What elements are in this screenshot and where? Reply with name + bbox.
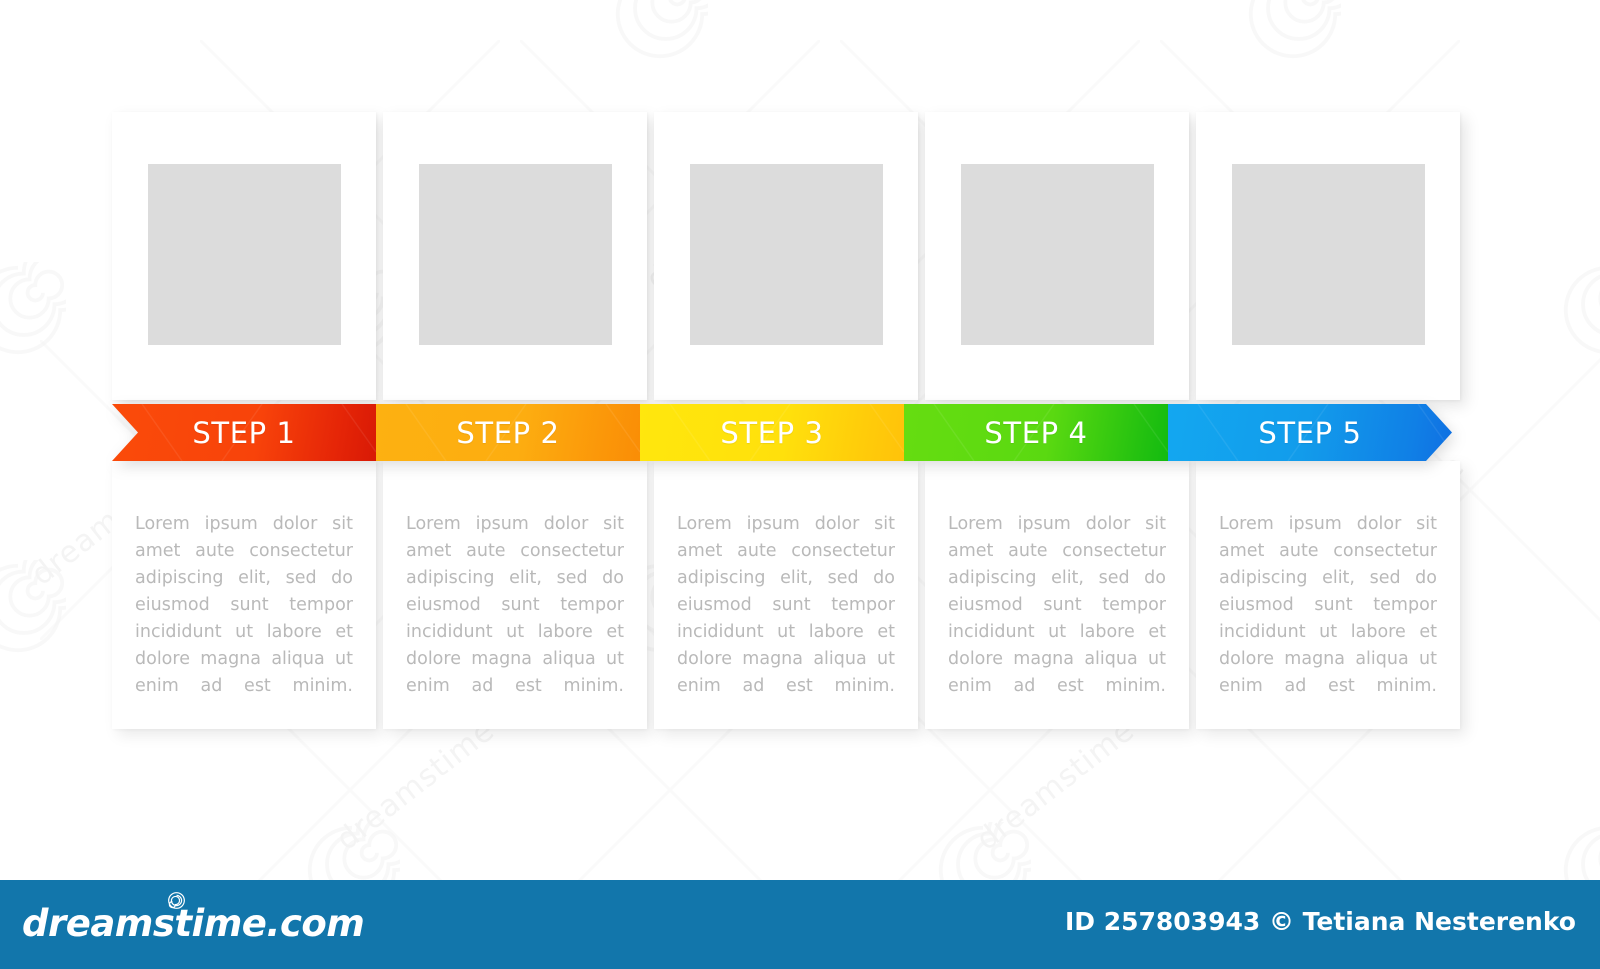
step-description-text: Lorem ipsum dolor sit amet aute consecte…: [677, 511, 895, 700]
step-description-card-2: Lorem ipsum dolor sit amet aute consecte…: [383, 461, 647, 729]
step-description-card-3: Lorem ipsum dolor sit amet aute consecte…: [654, 461, 918, 729]
infographic-canvas: dreamstime dreamstime dreamstime dreamst…: [0, 0, 1600, 969]
step-description-text: Lorem ipsum dolor sit amet aute consecte…: [135, 511, 353, 700]
step-label: STEP 4: [984, 416, 1087, 450]
watermark-spiral-icon: [612, 0, 708, 62]
image-cards-row: [112, 112, 1462, 407]
dreamstime-logo[interactable]: dreamstime.com: [22, 902, 364, 945]
step-card-4[interactable]: [925, 112, 1189, 400]
step-label: STEP 3: [720, 416, 823, 450]
watermark-spiral-icon: [0, 262, 66, 358]
step-description-card-4: Lorem ipsum dolor sit amet aute consecte…: [925, 461, 1189, 729]
step-description-text: Lorem ipsum dolor sit amet aute consecte…: [406, 511, 624, 700]
image-placeholder[interactable]: [961, 164, 1154, 345]
stock-footer-bar: dreamstime.com ID 257803943 © Tetiana Ne…: [0, 880, 1600, 969]
step-card-1[interactable]: [112, 112, 376, 400]
spiral-registered-icon: [168, 892, 185, 909]
description-cards-row: Lorem ipsum dolor sit amet aute consecte…: [112, 461, 1462, 731]
step-description-text: Lorem ipsum dolor sit amet aute consecte…: [948, 511, 1166, 700]
step-segment-3[interactable]: STEP 3: [640, 404, 904, 461]
watermark-word: dreamstime: [330, 713, 501, 858]
image-credit: ID 257803943 © Tetiana Nesterenko: [1065, 907, 1576, 936]
image-placeholder[interactable]: [690, 164, 883, 345]
step-label: STEP 1: [192, 416, 295, 450]
watermark-spiral-icon: [1560, 262, 1600, 358]
step-segment-1[interactable]: STEP 1: [112, 404, 376, 461]
image-placeholder[interactable]: [148, 164, 341, 345]
step-segment-5[interactable]: STEP 5: [1168, 404, 1452, 461]
step-description-text: Lorem ipsum dolor sit amet aute consecte…: [1219, 511, 1437, 700]
image-placeholder[interactable]: [1232, 164, 1425, 345]
watermark-spiral-icon: [0, 560, 66, 656]
step-label: STEP 5: [1258, 416, 1361, 450]
watermark-word: dreamstime: [970, 713, 1141, 858]
step-card-3[interactable]: [654, 112, 918, 400]
step-description-card-5: Lorem ipsum dolor sit amet aute consecte…: [1196, 461, 1460, 729]
step-segment-2[interactable]: STEP 2: [376, 404, 640, 461]
step-label: STEP 2: [456, 416, 559, 450]
step-ribbon: STEP 1 STEP 2 STEP 3 STEP 4 STEP 5: [112, 404, 1452, 461]
image-placeholder[interactable]: [419, 164, 612, 345]
step-card-2[interactable]: [383, 112, 647, 400]
step-description-card-1: Lorem ipsum dolor sit amet aute consecte…: [112, 461, 376, 729]
step-card-5[interactable]: [1196, 112, 1460, 400]
step-segment-4[interactable]: STEP 4: [904, 404, 1168, 461]
watermark-spiral-icon: [1245, 0, 1341, 62]
